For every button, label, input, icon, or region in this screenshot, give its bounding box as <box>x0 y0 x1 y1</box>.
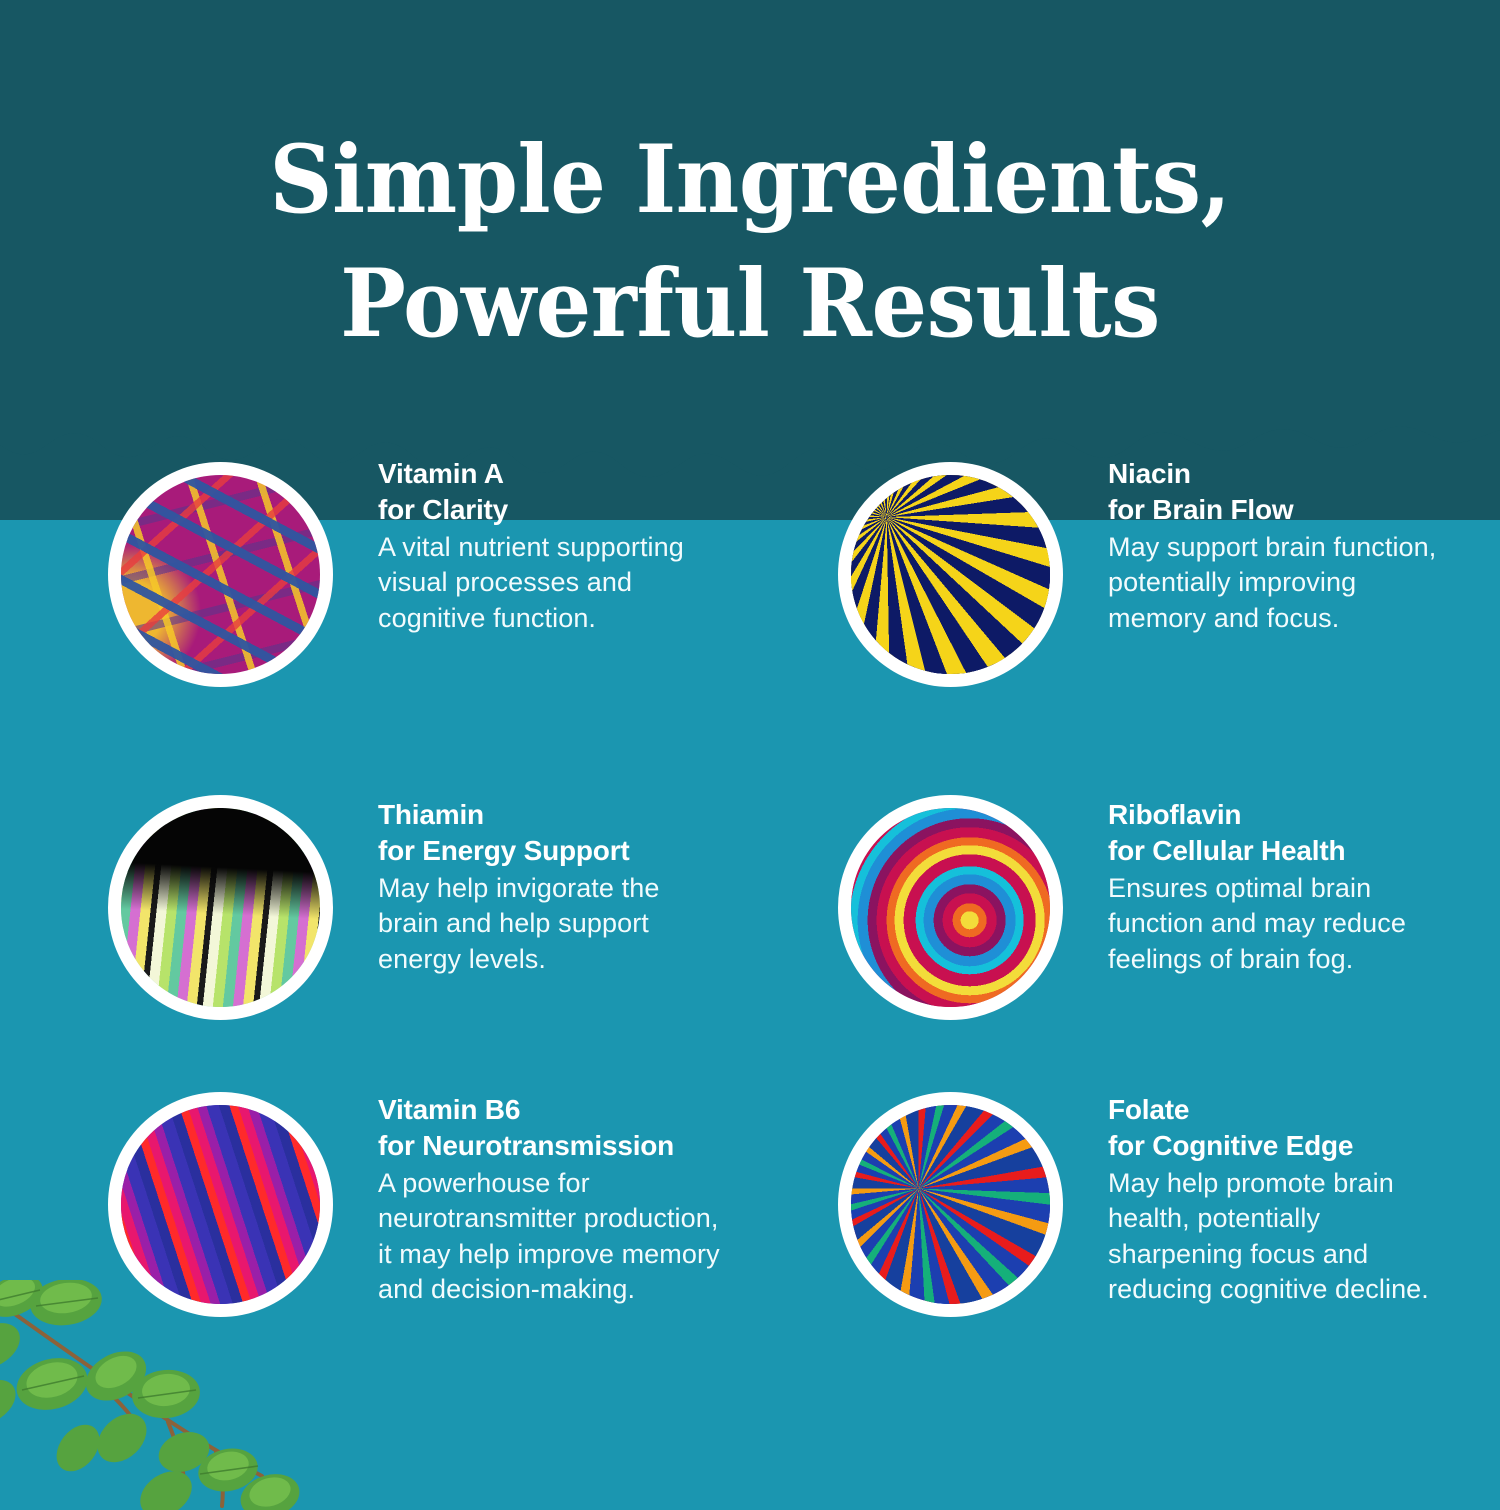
title-line-2: Powerful Results <box>53 242 1448 366</box>
ingredient-text-niacin: Niacin for Brain Flow May support brain … <box>1063 440 1500 636</box>
ingredient-thumbnail-riboflavin <box>838 795 1063 1020</box>
ingredient-name: Niacin <box>1108 456 1500 492</box>
ingredient-benefit: for Neurotransmission <box>378 1128 783 1164</box>
vitamin-a-crystal-micrograph-icon <box>121 475 320 674</box>
ingredient-text-vitamin-a: Vitamin A for Clarity A vital nutrient s… <box>333 440 783 636</box>
ingredient-description: Ensures optimal brain function and may r… <box>1108 871 1438 977</box>
ingredient-card-folate[interactable]: Folate for Cognitive Edge May help promo… <box>838 1070 1500 1385</box>
folate-crystal-micrograph-icon <box>851 1105 1050 1304</box>
ingredient-name: Vitamin A <box>378 456 783 492</box>
ingredient-card-vitamin-b6[interactable]: Vitamin B6 for Neurotransmission A power… <box>108 1070 783 1385</box>
ingredient-thumbnail-vitamin-b6 <box>108 1092 333 1317</box>
riboflavin-crystal-micrograph-icon <box>851 808 1050 1007</box>
ingredient-card-vitamin-a[interactable]: Vitamin A for Clarity A vital nutrient s… <box>108 440 783 755</box>
title-line-1: Simple Ingredients, <box>53 118 1448 242</box>
ingredient-benefit: for Cellular Health <box>1108 833 1500 869</box>
ingredient-benefit: for Cognitive Edge <box>1108 1128 1500 1164</box>
ingredient-thumbnail-vitamin-a <box>108 462 333 687</box>
ingredient-card-riboflavin[interactable]: Riboflavin for Cellular Health Ensures o… <box>838 755 1500 1070</box>
ingredient-card-niacin[interactable]: Niacin for Brain Flow May support brain … <box>838 440 1500 755</box>
page-title: Simple Ingredients, Powerful Results <box>53 118 1448 366</box>
ingredient-benefit: for Clarity <box>378 492 783 528</box>
ingredient-thumbnail-folate <box>838 1092 1063 1317</box>
ingredient-text-folate: Folate for Cognitive Edge May help promo… <box>1063 1070 1500 1307</box>
ingredient-thumbnail-niacin <box>838 462 1063 687</box>
ingredient-name: Vitamin B6 <box>378 1092 783 1128</box>
vitamin-b6-crystal-micrograph-icon <box>121 1105 320 1304</box>
ingredients-grid: Vitamin A for Clarity A vital nutrient s… <box>0 440 1500 1385</box>
ingredient-description: A vital nutrient supporting visual proce… <box>378 530 708 636</box>
ingredient-name: Folate <box>1108 1092 1500 1128</box>
ingredient-benefit: for Energy Support <box>378 833 783 869</box>
ingredient-text-thiamin: Thiamin for Energy Support May help invi… <box>333 755 783 977</box>
ingredient-text-riboflavin: Riboflavin for Cellular Health Ensures o… <box>1063 755 1500 977</box>
ingredient-name: Thiamin <box>378 797 783 833</box>
ingredient-benefit: for Brain Flow <box>1108 492 1500 528</box>
niacin-crystal-micrograph-icon <box>851 475 1050 674</box>
thiamin-crystal-micrograph-icon <box>121 808 320 1007</box>
ingredient-name: Riboflavin <box>1108 797 1500 833</box>
ingredient-description: A powerhouse for neurotransmitter produc… <box>378 1166 728 1307</box>
ingredient-description: May support brain function, potentially … <box>1108 530 1438 636</box>
ingredient-text-vitamin-b6: Vitamin B6 for Neurotransmission A power… <box>333 1070 783 1307</box>
ingredient-description: May help invigorate the brain and help s… <box>378 871 708 977</box>
ingredient-card-thiamin[interactable]: Thiamin for Energy Support May help invi… <box>108 755 783 1070</box>
ingredient-description: May help promote brain health, potential… <box>1108 1166 1458 1307</box>
ingredient-thumbnail-thiamin <box>108 795 333 1020</box>
